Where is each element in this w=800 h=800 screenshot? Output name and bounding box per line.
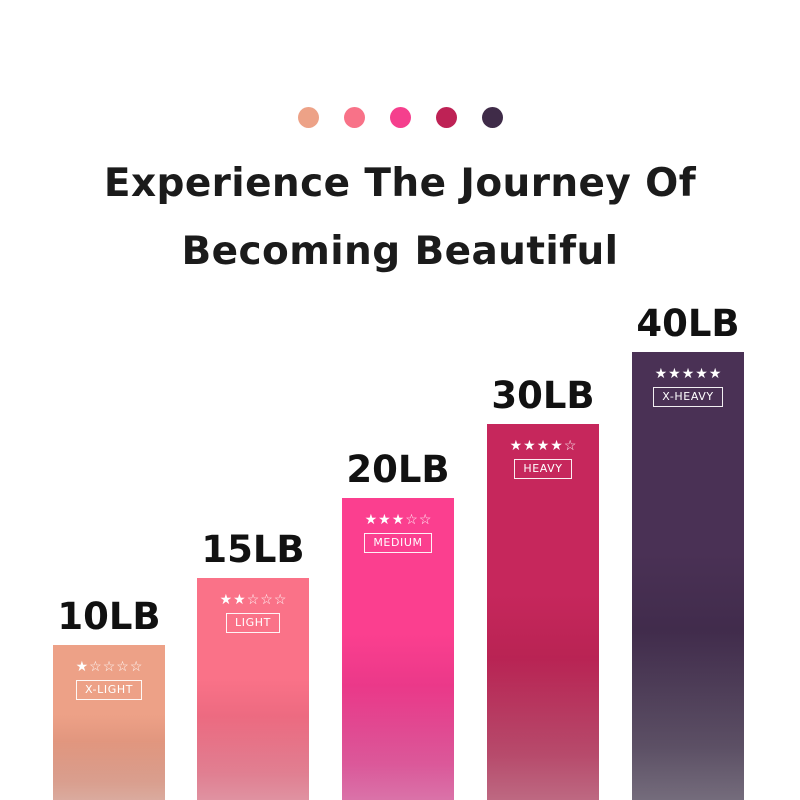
bar-20lb-fill: ★★★☆☆MEDIUM <box>342 498 454 800</box>
star-empty-icon: ☆ <box>564 438 577 452</box>
star-empty-icon: ☆ <box>405 512 418 526</box>
bar-30lb-value-label: 30LB <box>491 374 594 418</box>
star-filled-icon: ★ <box>550 438 563 452</box>
color-swatch-dots <box>0 107 800 128</box>
star-filled-icon: ★ <box>392 512 405 526</box>
star-empty-icon: ☆ <box>274 592 287 606</box>
bar-30lb-badge: ★★★★☆HEAVY <box>487 438 599 479</box>
star-filled-icon: ★ <box>709 366 722 380</box>
star-empty-icon: ☆ <box>130 659 143 673</box>
star-filled-icon: ★ <box>668 366 681 380</box>
bar-10lb-level-label: X-LIGHT <box>76 680 142 700</box>
star-empty-icon: ☆ <box>419 512 432 526</box>
star-empty-icon: ☆ <box>260 592 273 606</box>
star-filled-icon: ★ <box>233 592 246 606</box>
bar-15lb-level-label: LIGHT <box>226 613 280 633</box>
star-filled-icon: ★ <box>523 438 536 452</box>
bar-10lb-value-label: 10LB <box>57 595 160 639</box>
star-filled-icon: ★ <box>378 512 391 526</box>
bar-40lb-badge: ★★★★★X-HEAVY <box>632 366 744 407</box>
star-filled-icon: ★ <box>220 592 233 606</box>
headline-line-2: Becoming Beautiful <box>0 218 800 286</box>
star-filled-icon: ★ <box>695 366 708 380</box>
page-title: Experience The Journey Of Becoming Beaut… <box>0 150 800 286</box>
star-empty-icon: ☆ <box>116 659 129 673</box>
headline-line-1: Experience The Journey Of <box>0 150 800 218</box>
bar-40lb-level-label: X-HEAVY <box>653 387 722 407</box>
bar-20lb[interactable]: 20LB★★★☆☆MEDIUM <box>342 498 454 800</box>
bar-15lb[interactable]: 15LB★★☆☆☆LIGHT <box>197 578 309 800</box>
promo-banner: Experience The Journey Of Becoming Beaut… <box>0 0 800 800</box>
star-filled-icon: ★ <box>510 438 523 452</box>
dot-heavy <box>436 107 457 128</box>
star-filled-icon: ★ <box>537 438 550 452</box>
star-filled-icon: ★ <box>682 366 695 380</box>
bar-20lb-star-rating: ★★★☆☆ <box>365 512 432 526</box>
bar-30lb-level-label: HEAVY <box>514 459 571 479</box>
bar-15lb-fill: ★★☆☆☆LIGHT <box>197 578 309 800</box>
bar-10lb[interactable]: 10LB★☆☆☆☆X-LIGHT <box>53 645 165 800</box>
bar-30lb-star-rating: ★★★★☆ <box>510 438 577 452</box>
bar-30lb[interactable]: 30LB★★★★☆HEAVY <box>487 424 599 800</box>
bar-30lb-fill: ★★★★☆HEAVY <box>487 424 599 800</box>
bar-15lb-star-rating: ★★☆☆☆ <box>220 592 287 606</box>
bar-30lb-bottom-fade <box>487 424 599 800</box>
dot-light <box>344 107 365 128</box>
bar-20lb-badge: ★★★☆☆MEDIUM <box>342 512 454 553</box>
star-empty-icon: ☆ <box>247 592 260 606</box>
star-filled-icon: ★ <box>76 659 89 673</box>
bar-10lb-fill: ★☆☆☆☆X-LIGHT <box>53 645 165 800</box>
bar-15lb-value-label: 15LB <box>201 528 304 572</box>
bar-40lb-star-rating: ★★★★★ <box>655 366 722 380</box>
star-filled-icon: ★ <box>365 512 378 526</box>
bar-40lb-fill: ★★★★★X-HEAVY <box>632 352 744 800</box>
bar-10lb-badge: ★☆☆☆☆X-LIGHT <box>53 659 165 700</box>
bar-20lb-level-label: MEDIUM <box>364 533 431 553</box>
bar-15lb-badge: ★★☆☆☆LIGHT <box>197 592 309 633</box>
dot-x-light <box>298 107 319 128</box>
bar-40lb[interactable]: 40LB★★★★★X-HEAVY <box>632 352 744 800</box>
bar-10lb-star-rating: ★☆☆☆☆ <box>76 659 143 673</box>
bar-20lb-value-label: 20LB <box>346 448 449 492</box>
star-filled-icon: ★ <box>655 366 668 380</box>
star-empty-icon: ☆ <box>89 659 102 673</box>
dot-medium <box>390 107 411 128</box>
bar-40lb-value-label: 40LB <box>636 302 739 346</box>
bar-40lb-bottom-fade <box>632 352 744 800</box>
star-empty-icon: ☆ <box>103 659 116 673</box>
dot-x-heavy <box>482 107 503 128</box>
